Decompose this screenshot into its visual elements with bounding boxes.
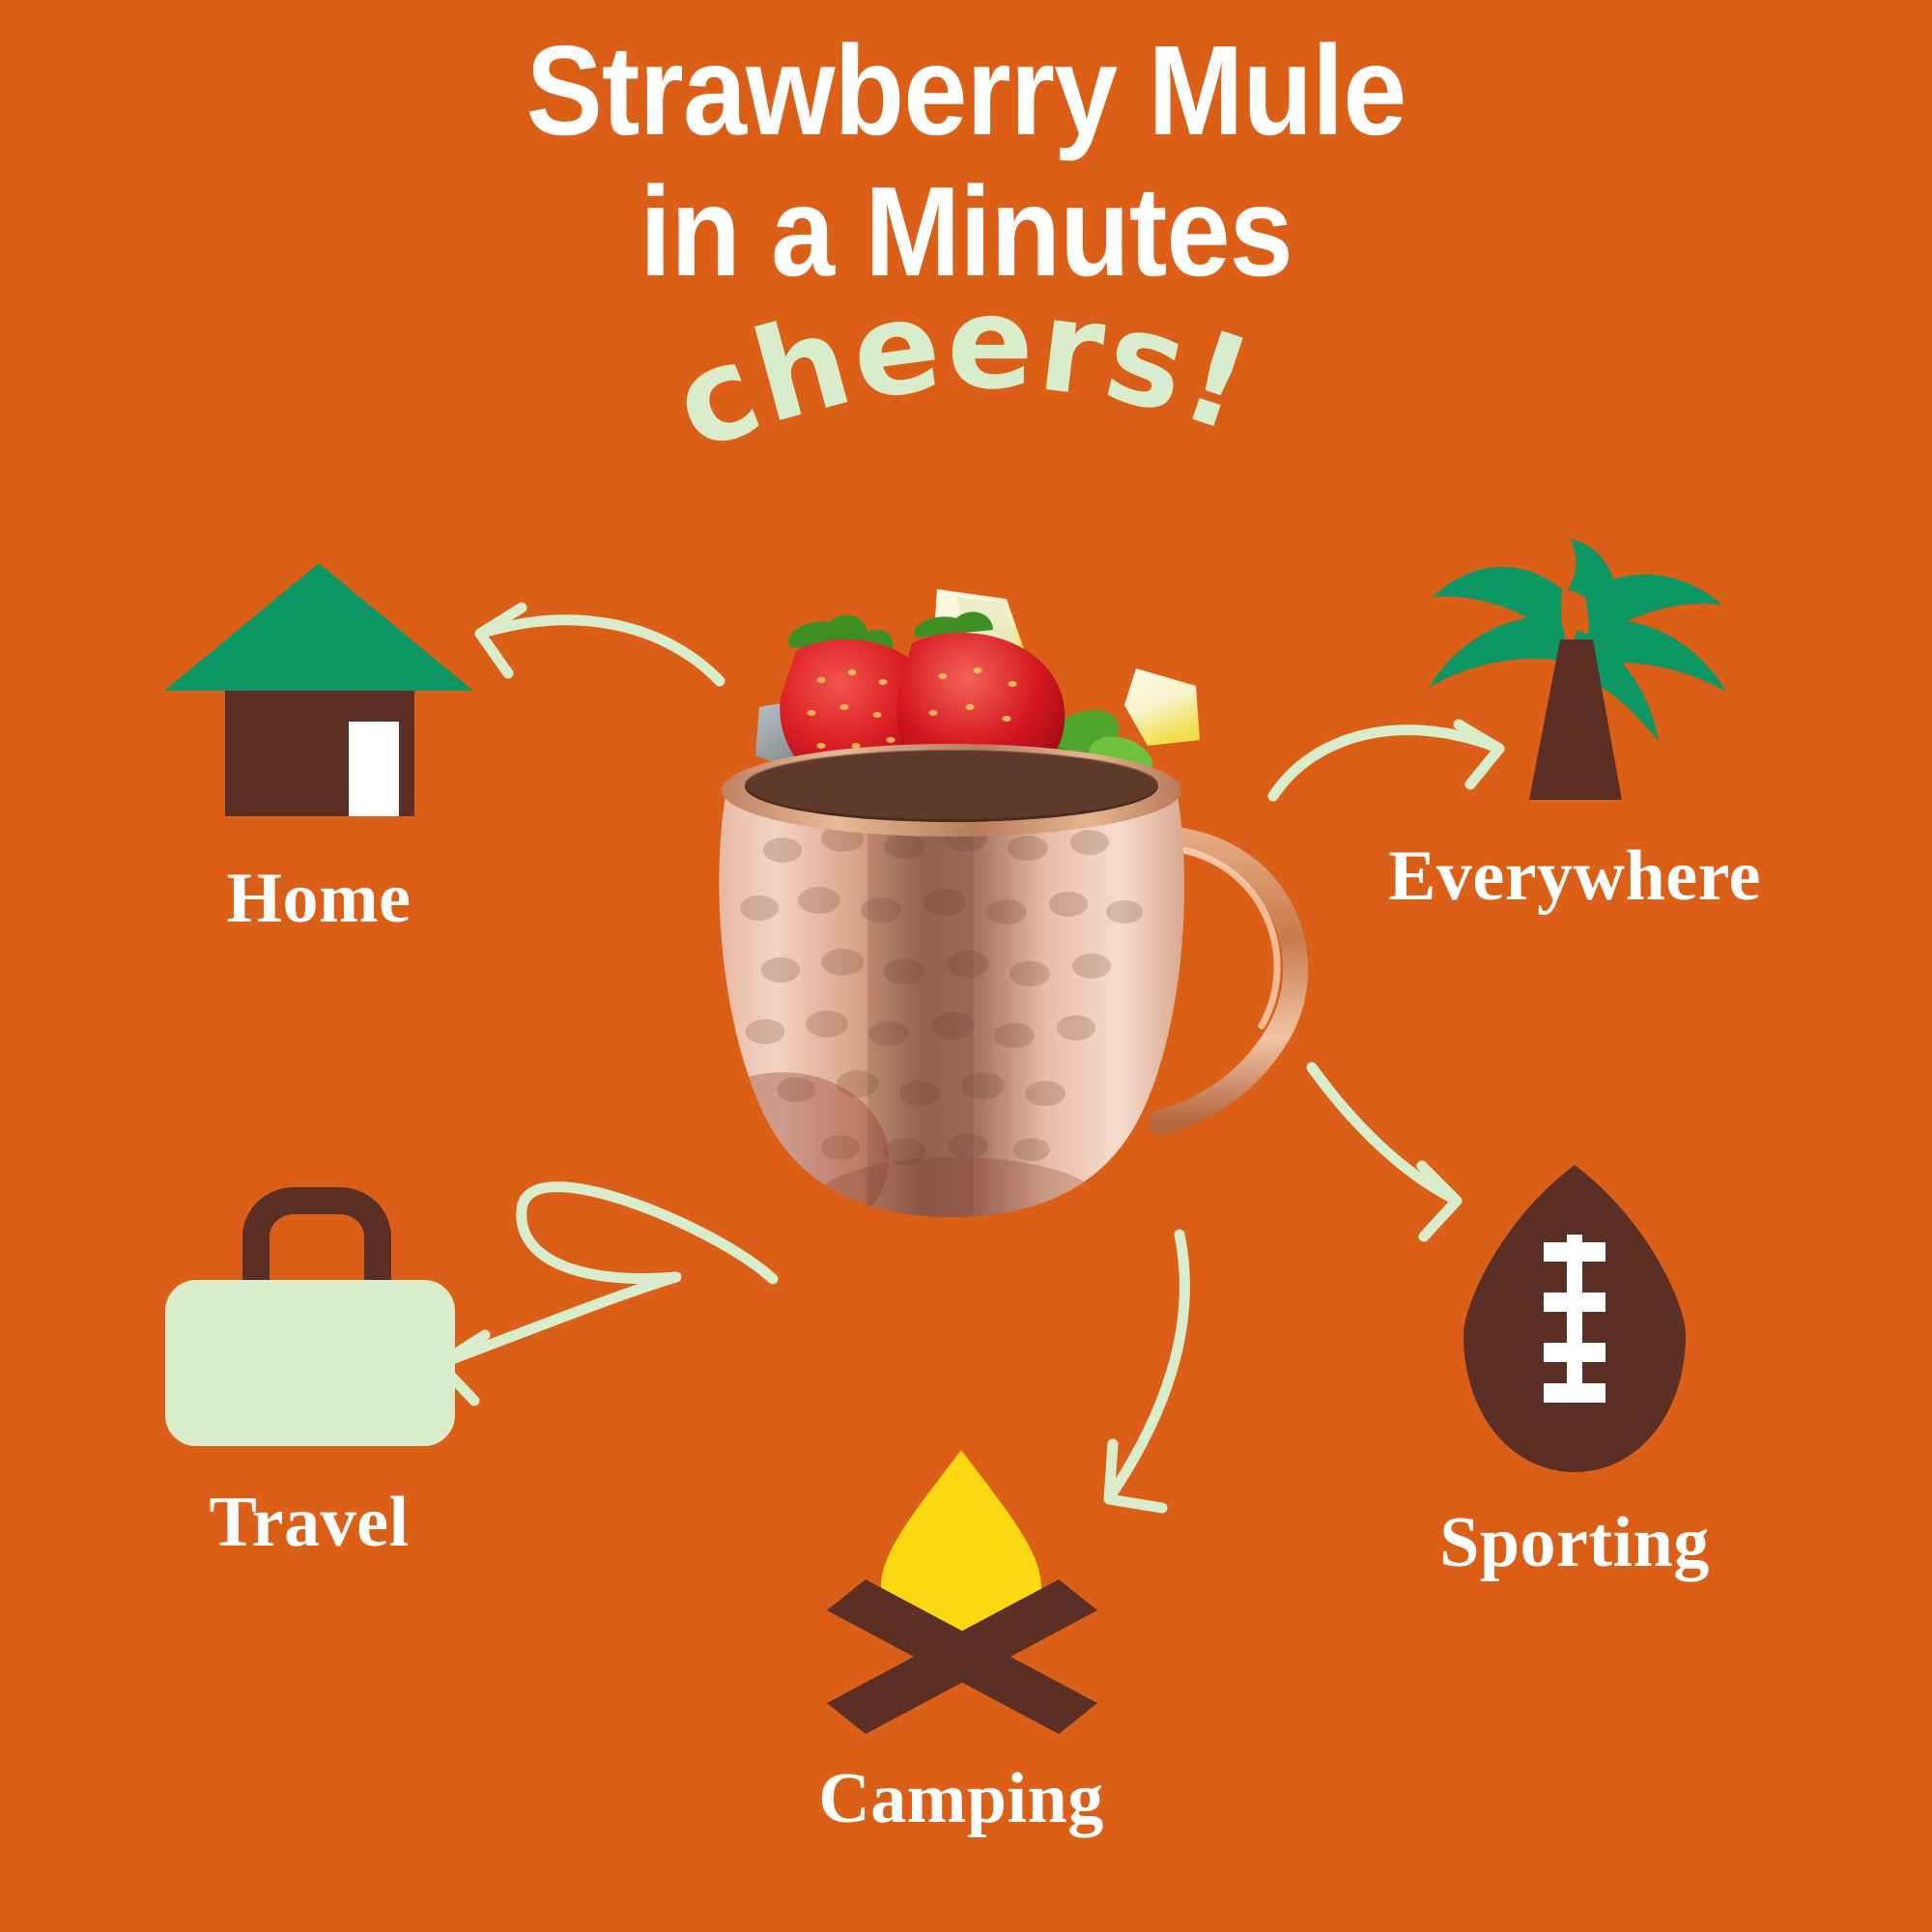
headline-line-1: Strawberry Mule [97,27,1835,155]
suitcase-handle [256,1201,378,1288]
node-camping[interactable]: Camping [720,1444,1203,1834]
palm-tree-icon [1275,522,1874,802]
node-everywhere-label: Everywhere [1275,840,1874,912]
strawberry-mule-mug-photo [667,580,1294,1265]
house-roof [164,563,473,691]
campfire-icon [720,1444,1203,1734]
cheers-script-accent: cheers! [618,319,1314,522]
node-everywhere[interactable]: Everywhere [1275,522,1874,912]
football-icon [1304,1159,1845,1478]
suitcase-body [165,1280,455,1446]
house-icon [68,555,570,826]
suitcase-icon [58,1183,560,1454]
node-travel[interactable]: Travel [58,1183,560,1558]
node-home[interactable]: Home [68,555,570,934]
headline-line-2: in a Minutes [97,168,1835,296]
mug-rim [722,744,1181,837]
node-camping-label: Camping [720,1763,1203,1834]
poster-canvas: Strawberry Mule in a Minutes cheers! [0,0,1932,1932]
node-travel-label: Travel [58,1487,560,1558]
house-door [349,722,399,816]
mug-body [676,782,1184,1250]
node-sporting[interactable]: Sporting [1304,1159,1845,1578]
page-title: Strawberry Mule in a Minutes [97,27,1835,296]
node-home-label: Home [68,863,570,934]
node-sporting-label: Sporting [1304,1507,1845,1578]
